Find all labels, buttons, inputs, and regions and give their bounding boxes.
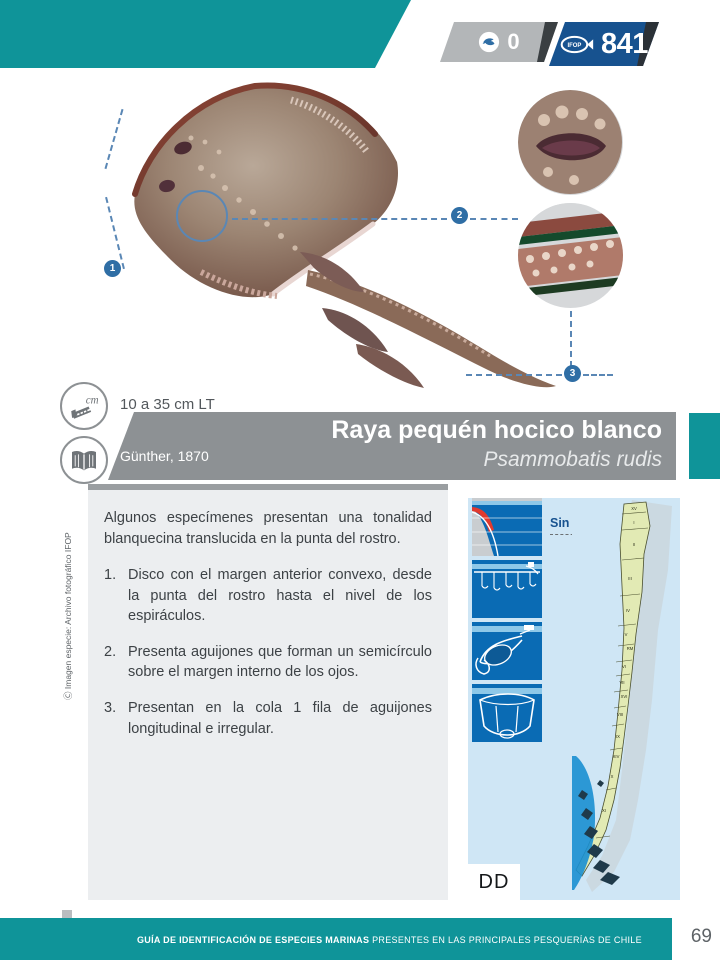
description-item-text: Presentan en la cola 1 fila de aguijones… <box>128 698 432 739</box>
specimen-photo-area: 1 2 3 <box>0 68 720 378</box>
description-top-strip <box>88 484 448 490</box>
description-item-text: Disco con el margen anterior convexo, de… <box>128 565 432 627</box>
description-item-number: 1. <box>104 565 120 627</box>
footer-title-bold: GUÍA DE IDENTIFICACIÓN DE ESPECIES MARIN… <box>137 935 369 945</box>
species-size: 10 a 35 cm LT <box>120 396 215 413</box>
chile-distribution-map: XVI IIIII IVV RMVI VIIXVI VIIIIX XIVX XI… <box>572 500 680 898</box>
svg-text:RM: RM <box>627 646 634 651</box>
svg-text:VI: VI <box>622 664 626 669</box>
svg-text:VII: VII <box>619 680 624 685</box>
svg-text:XIV: XIV <box>613 754 620 759</box>
detail-inset-tail-spines <box>518 203 623 308</box>
species-author: Günther, 1870 <box>120 448 209 464</box>
description-panel: Algunos especímenes presentan una tonali… <box>88 490 448 900</box>
svg-text:II: II <box>633 542 635 547</box>
svg-text:XI: XI <box>602 808 606 813</box>
species-common-name: Raya pequén hocico blanco <box>331 416 662 445</box>
svg-text:IFOP: IFOP <box>568 43 582 49</box>
trawl-net-icon <box>472 622 542 680</box>
distribution-map-panel: Sin ref. XVI IIIII IVV RMVI VIIXVI VIIII… <box>468 498 680 900</box>
svg-text:XV: XV <box>631 506 637 511</box>
caliper-cm-icon: cm <box>60 382 108 430</box>
footer-title-rest: PRESENTES EN LAS PRINCIPALES PESQUERÍAS … <box>372 935 642 945</box>
description-item-text: Presenta aguijones que forman un semicír… <box>128 642 432 683</box>
gear-icon-strip <box>472 498 542 746</box>
ifop-fish-icon: IFOP <box>560 35 594 54</box>
callout-3-leader-left <box>466 374 562 376</box>
footer-title: GUÍA DE IDENTIFICACIÓN DE ESPECIES MARIN… <box>137 935 642 945</box>
callout-marker-2: 2 <box>451 207 468 224</box>
description-item: 1. Disco con el margen anterior convexo,… <box>104 565 432 627</box>
fish-count-value: 841 <box>601 28 648 61</box>
callout-3-leader-vertical <box>570 311 572 367</box>
detail-inset-mouth <box>518 90 623 195</box>
description-item-number: 2. <box>104 642 120 683</box>
callout-2-leader-left <box>232 218 447 220</box>
svg-text:V: V <box>625 632 628 637</box>
conservation-status-badge: DD <box>468 864 520 900</box>
species-scientific-name: Psammobatis rudis <box>483 448 662 472</box>
shark-icon <box>478 31 500 53</box>
svg-text:IX: IX <box>616 734 620 739</box>
shark-count-value: 0 <box>507 29 519 55</box>
svg-text:X: X <box>611 774 614 779</box>
callout-ring-marker <box>176 190 228 242</box>
footer-left-tick <box>62 910 72 918</box>
shark-count-badge: 0 <box>440 22 558 62</box>
svg-text:cm: cm <box>86 394 99 406</box>
svg-text:XVI: XVI <box>621 694 628 699</box>
svg-text:III: III <box>628 576 632 581</box>
description-item-number: 3. <box>104 698 120 739</box>
svg-text:VIII: VIII <box>617 712 623 717</box>
depth-profile-icon <box>472 498 542 556</box>
svg-text:IV: IV <box>626 608 630 613</box>
description-lead: Algunos especímenes presentan una tonali… <box>104 508 432 549</box>
description-item: 3. Presentan en la cola 1 fila de aguijo… <box>104 698 432 739</box>
book-icon <box>60 436 108 484</box>
species-info-block: cm 10 a 35 cm LT Günther, 1870 Raya pequ… <box>0 378 720 490</box>
callout-2-leader-right <box>470 218 518 220</box>
fish-count-badge: IFOP 841 <box>549 22 659 66</box>
callout-3-leader-right <box>583 374 613 376</box>
name-banner-teal-tab <box>689 413 720 479</box>
svg-text:I: I <box>633 520 634 525</box>
callout-marker-3: 3 <box>564 365 581 382</box>
callout-marker-1: 1 <box>104 260 121 277</box>
image-credit: Ⓒ Imagen especie: Archivo fotográfico IF… <box>62 532 74 700</box>
description-item: 2. Presenta aguijones que forman un semi… <box>104 642 432 683</box>
purse-seine-icon <box>472 684 542 742</box>
page-number: 69 <box>691 926 712 948</box>
longline-icon <box>472 560 542 618</box>
